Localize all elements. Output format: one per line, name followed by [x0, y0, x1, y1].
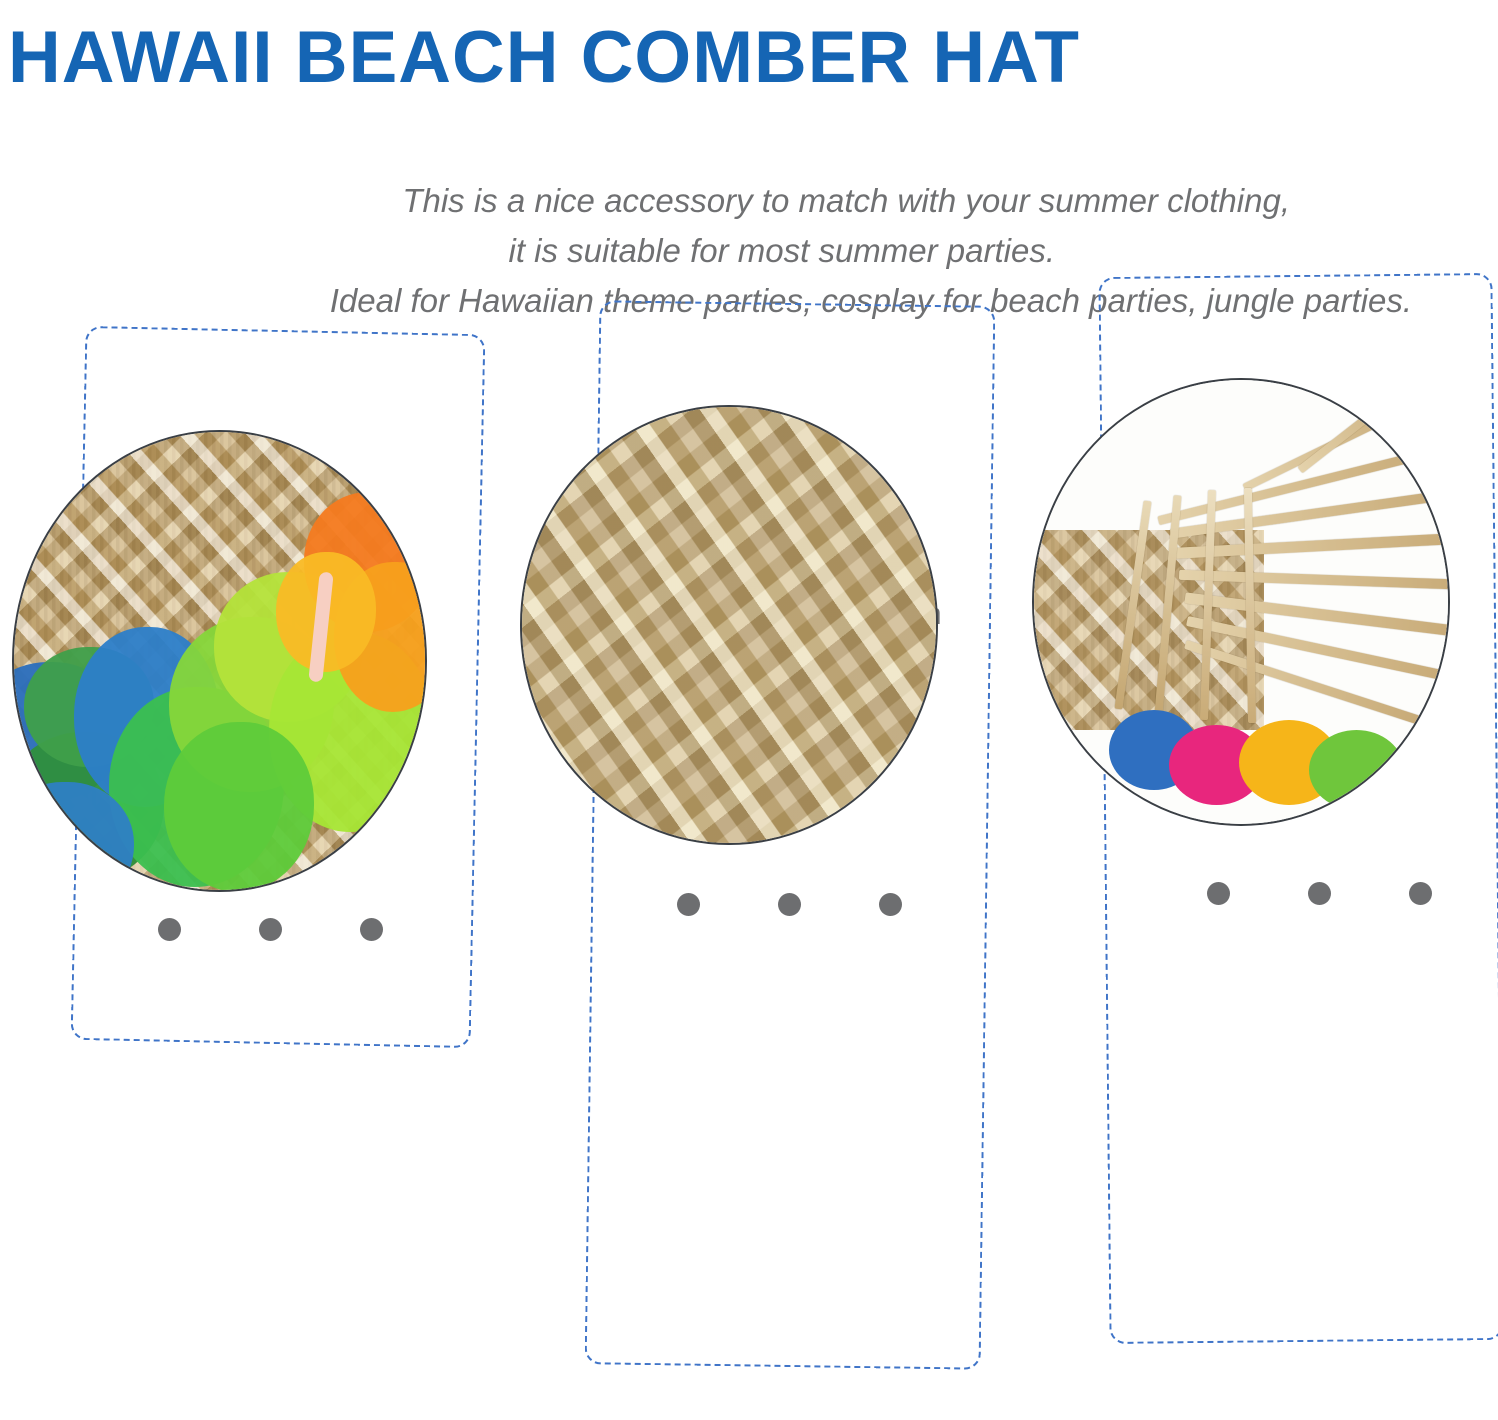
dot: [1409, 882, 1432, 905]
dot-group-hand-woven: [677, 893, 902, 916]
straw-weave-texture: [520, 405, 938, 845]
dot: [158, 918, 181, 941]
photo-straw-fringe-edge: [1032, 378, 1450, 826]
dot: [1308, 882, 1331, 905]
dot: [778, 893, 801, 916]
photo-straw-weave-closeup: [520, 405, 938, 845]
subtitle-line-1: This is a nice accessory to match with y…: [0, 176, 1440, 226]
dot: [259, 918, 282, 941]
dot: [360, 918, 383, 941]
photo-straw-weave-with-rainbow-flowers: [12, 430, 427, 892]
dot: [677, 893, 700, 916]
dot-group-edges-flowers: [158, 918, 383, 941]
dot: [879, 893, 902, 916]
flower-petal: [164, 722, 314, 892]
subtitle-line-2: it is suitable for most summer parties.: [0, 226, 1440, 276]
dot-group-wild-shape: [1207, 882, 1432, 905]
flower-petal: [1309, 730, 1404, 810]
dot: [1207, 882, 1230, 905]
page-title: HAWAII BEACH COMBER HAT: [0, 16, 1428, 99]
